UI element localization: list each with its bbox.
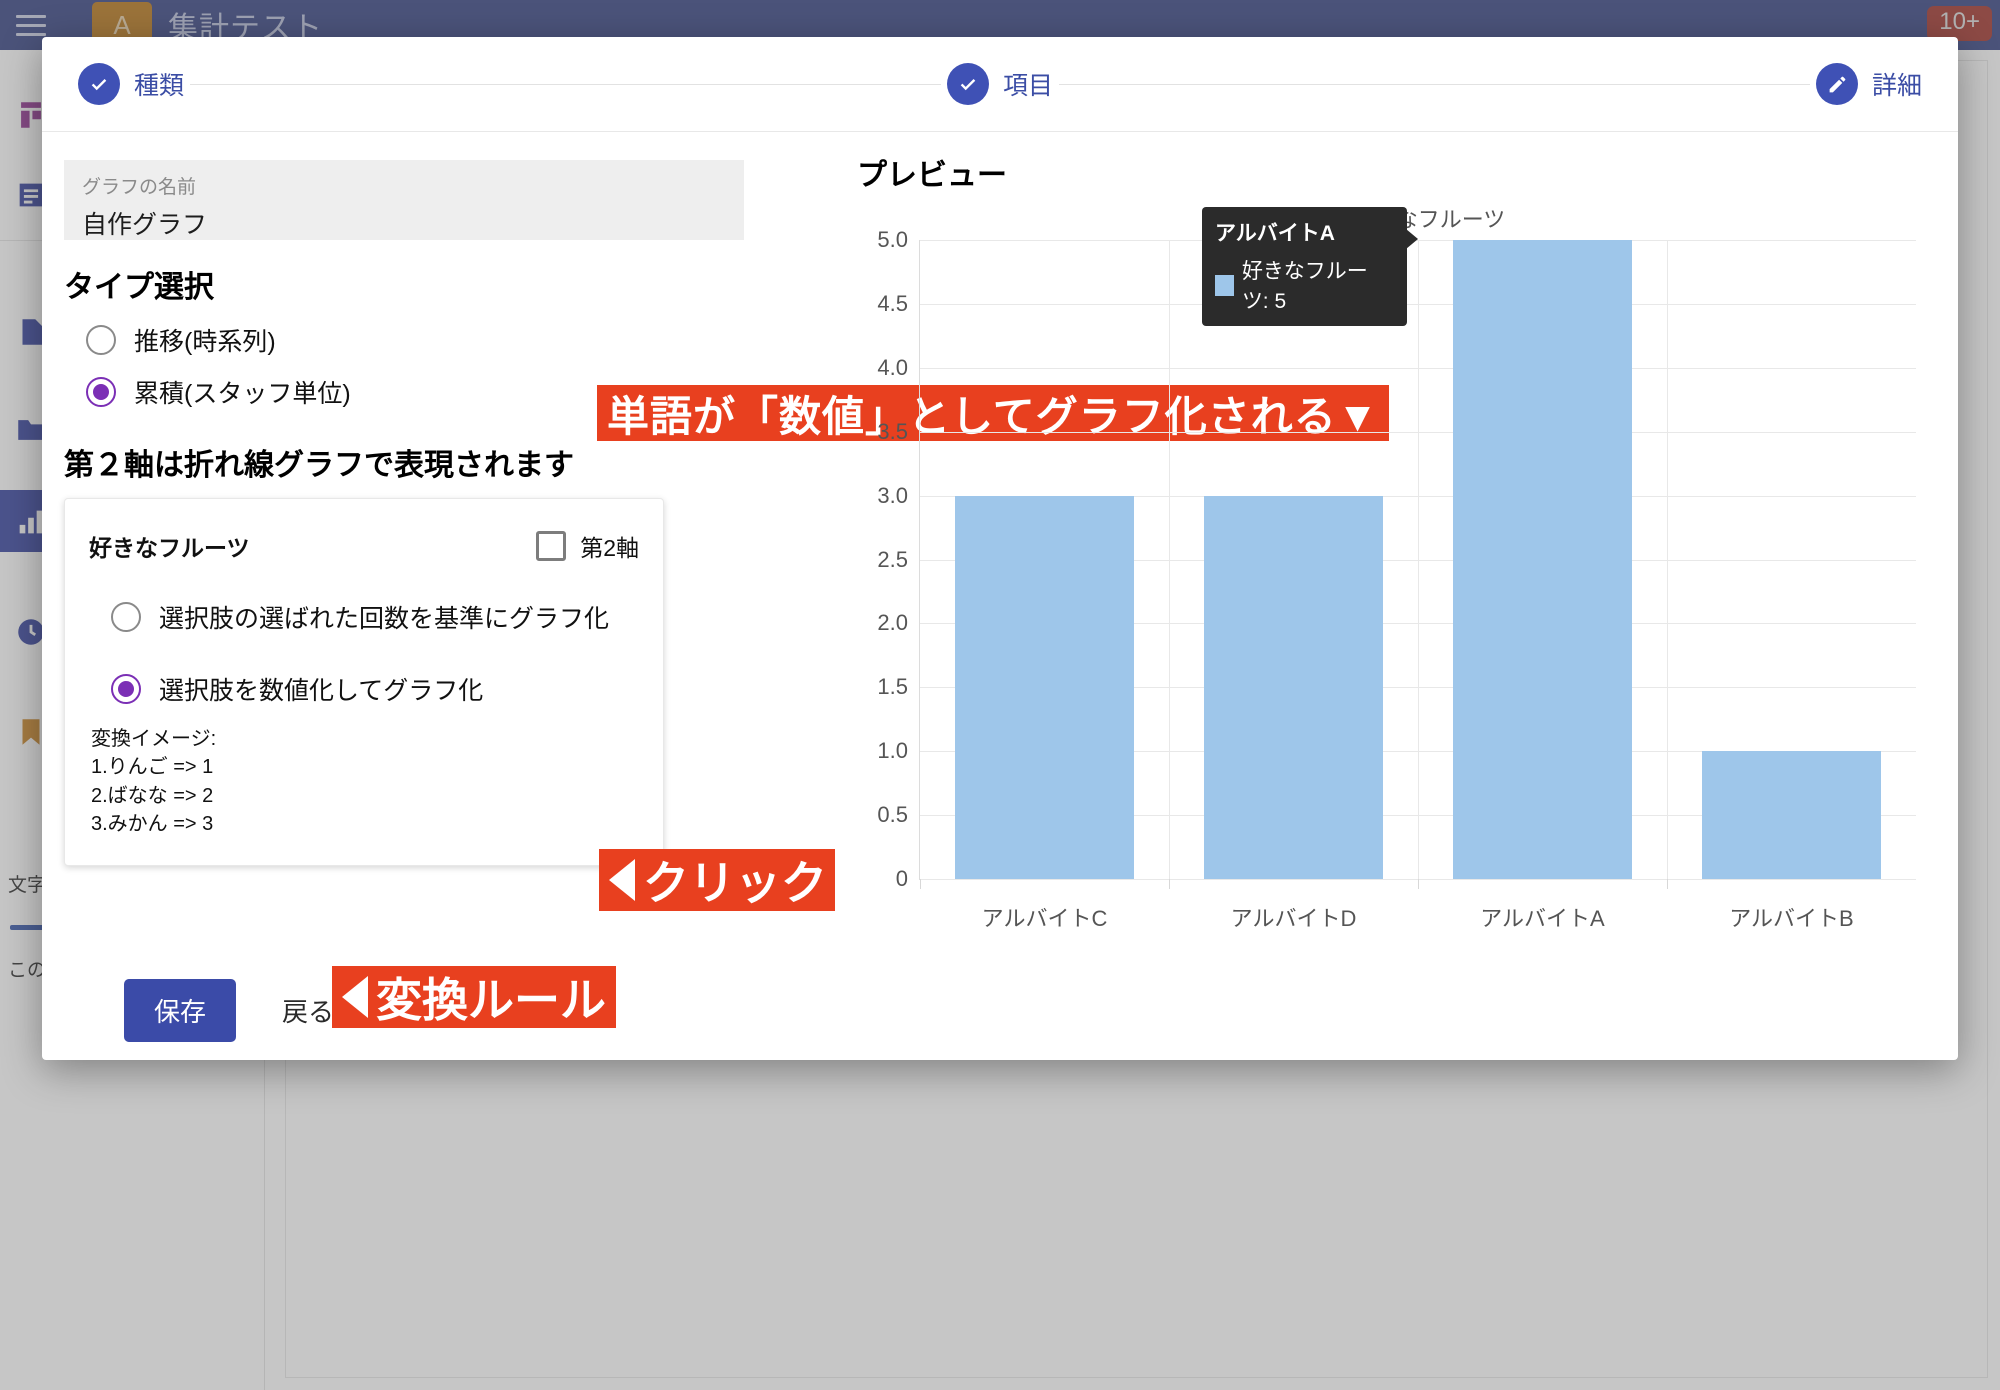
axis2-checkbox-group[interactable]: 第2軸	[536, 529, 639, 563]
radio-selected-icon[interactable]	[86, 377, 116, 407]
tooltip-title: アルバイトA	[1215, 217, 1394, 247]
y-axis-tick-label: 4.0	[877, 355, 908, 381]
y-axis-tick-label: 0	[896, 866, 908, 892]
chart-category-divider	[1418, 240, 1419, 879]
stepper-connector-2	[1059, 84, 1810, 85]
check-icon	[78, 63, 120, 105]
x-axis-tick-mark	[1418, 879, 1419, 889]
y-axis-tick-label: 3.5	[877, 419, 908, 445]
x-axis-tick-label: アルバイトA	[1480, 901, 1604, 933]
callout-click-text: クリック	[643, 847, 827, 913]
chart-category-divider	[1169, 240, 1170, 879]
x-axis-tick-mark	[1667, 879, 1668, 889]
type-option-cumulative-label: 累積(スタッフ単位)	[134, 374, 351, 410]
type-section-title: タイプ選択	[64, 262, 744, 306]
dialog-footer: 保存 戻る	[42, 960, 1958, 1060]
stepper-connector-1	[190, 84, 941, 85]
stepper: 種類 項目 詳細	[42, 37, 1958, 132]
graph-name-label: グラフの名前	[82, 172, 726, 199]
chart-tooltip: アルバイトA 好きなフルーツ: 5	[1202, 207, 1407, 326]
chart-category-divider	[1667, 240, 1668, 879]
axis2-note: 第２軸は折れ線グラフで表現されます	[64, 440, 744, 484]
graph-settings-dialog: 種類 項目 詳細 グラフの名前 自作グラフ タイプ選択	[42, 37, 1958, 1060]
y-axis-tick-label: 3.0	[877, 483, 908, 509]
tooltip-series-row: 好きなフルーツ: 5	[1215, 255, 1394, 315]
settings-form: グラフの名前 自作グラフ タイプ選択 推移(時系列) 累積(スタッフ単位) 第２…	[64, 160, 744, 866]
chart-bar[interactable]	[1204, 496, 1383, 879]
y-axis-tick-label: 0.5	[877, 802, 908, 828]
tooltip-arrow	[1406, 229, 1418, 249]
pencil-icon	[1816, 63, 1858, 105]
chart-bar[interactable]	[1702, 751, 1881, 879]
callout-click-annotation: クリック	[599, 849, 835, 911]
conversion-rules: 変換イメージ: 1.りんご => 1 2.ばなな => 2 3.みかん => 3	[89, 725, 639, 839]
bar-chart: 好きなフルーツ 00.51.01.52.02.53.03.54.04.55.0ア…	[857, 202, 1938, 1060]
stepper-step-items[interactable]: 項目	[941, 63, 1059, 105]
conversion-heading: 変換イメージ:	[91, 725, 639, 753]
y-axis-tick-label: 4.5	[877, 291, 908, 317]
stepper-step-detail[interactable]: 詳細	[1810, 63, 1928, 105]
check-icon	[947, 63, 989, 105]
chart-bar[interactable]	[1453, 240, 1632, 879]
graph-name-input[interactable]: 自作グラフ	[82, 205, 726, 241]
graph-mode-option-count[interactable]: 選択肢の選ばれた回数を基準にグラフ化	[89, 591, 639, 643]
y-axis-tick-label: 2.5	[877, 547, 908, 573]
x-axis-tick-label: アルバイトC	[982, 901, 1108, 933]
item-card-title: 好きなフルーツ	[89, 529, 250, 563]
x-axis-tick-mark	[920, 879, 921, 889]
type-option-timeseries[interactable]: 推移(時系列)	[64, 314, 744, 366]
y-axis-tick-label: 1.0	[877, 738, 908, 764]
type-option-timeseries-label: 推移(時系列)	[134, 322, 276, 358]
tooltip-series-label: 好きなフルーツ: 5	[1242, 255, 1394, 315]
triangle-left-icon	[609, 859, 635, 901]
back-button[interactable]: 戻る	[276, 991, 340, 1030]
x-axis-tick-label: アルバイトB	[1729, 901, 1853, 933]
stepper-label-kind: 種類	[134, 66, 184, 102]
radio-icon[interactable]	[86, 325, 116, 355]
x-axis-tick-label: アルバイトD	[1231, 901, 1357, 933]
conversion-rule-1: 1.りんご => 1	[91, 753, 639, 781]
graph-mode-option-count-label: 選択肢の選ばれた回数を基準にグラフ化	[159, 599, 609, 635]
radio-icon[interactable]	[111, 602, 141, 632]
tooltip-swatch	[1215, 275, 1234, 296]
preview-panel: プレビュー 好きなフルーツ 00.51.01.52.02.53.03.54.04…	[857, 150, 1938, 1012]
graph-mode-option-numeric[interactable]: 選択肢を数値化してグラフ化	[89, 663, 639, 715]
item-settings-card: 好きなフルーツ 第2軸 選択肢の選ばれた回数を基準にグラフ化 選択肢を数値化して…	[64, 498, 664, 866]
item-card-header: 好きなフルーツ 第2軸	[89, 529, 639, 563]
y-axis-tick-label: 2.0	[877, 610, 908, 636]
x-axis-tick-mark	[1169, 879, 1170, 889]
y-axis-tick-label: 5.0	[877, 227, 908, 253]
y-axis-tick-label: 1.5	[877, 674, 908, 700]
conversion-rule-3: 3.みかん => 3	[91, 810, 639, 838]
axis2-checkbox-label: 第2軸	[580, 529, 639, 563]
checkbox-icon[interactable]	[536, 531, 566, 561]
stepper-label-detail: 詳細	[1872, 66, 1922, 102]
graph-mode-option-numeric-label: 選択肢を数値化してグラフ化	[159, 671, 483, 707]
dialog-body: グラフの名前 自作グラフ タイプ選択 推移(時系列) 累積(スタッフ単位) 第２…	[42, 132, 1958, 1012]
conversion-rule-2: 2.ばなな => 2	[91, 782, 639, 810]
preview-title: プレビュー	[857, 150, 1938, 194]
chart-plot-area: 00.51.01.52.02.53.03.54.04.55.0アルバイトCアルバ…	[919, 240, 1916, 880]
stepper-label-items: 項目	[1003, 66, 1053, 102]
save-button[interactable]: 保存	[124, 979, 236, 1042]
graph-name-field[interactable]: グラフの名前 自作グラフ	[64, 160, 744, 240]
radio-selected-icon[interactable]	[111, 674, 141, 704]
stepper-step-kind[interactable]: 種類	[72, 63, 190, 105]
chart-bar[interactable]	[955, 496, 1134, 879]
